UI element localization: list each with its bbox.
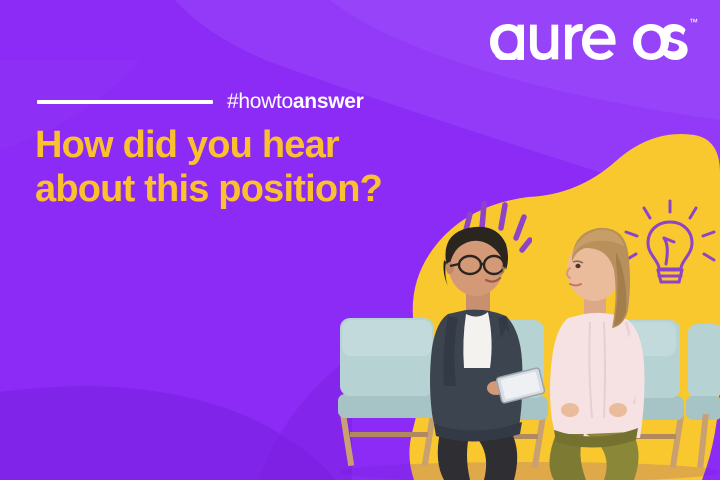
qureos-logo[interactable]: ™ bbox=[486, 14, 698, 60]
two-women-photo bbox=[418, 218, 688, 480]
headline-line-1: How did you hear bbox=[35, 124, 465, 168]
qureos-wordmark-icon bbox=[486, 14, 634, 60]
qureos-wordmark-tail-icon bbox=[632, 14, 688, 60]
divider-rule bbox=[37, 100, 213, 104]
hashtag-prefix: #howto bbox=[227, 90, 293, 113]
eyebrow-row: #howtoanswer bbox=[37, 89, 397, 115]
trademark-symbol: ™ bbox=[689, 18, 698, 27]
page-title: How did you hear about this position? bbox=[35, 124, 465, 211]
social-card: ™ #howtoanswer How did you hear about th… bbox=[0, 0, 720, 480]
headline-line-2: about this position? bbox=[35, 168, 465, 212]
hashtag-label: #howtoanswer bbox=[227, 90, 364, 114]
hashtag-emphasis: answer bbox=[293, 90, 364, 113]
